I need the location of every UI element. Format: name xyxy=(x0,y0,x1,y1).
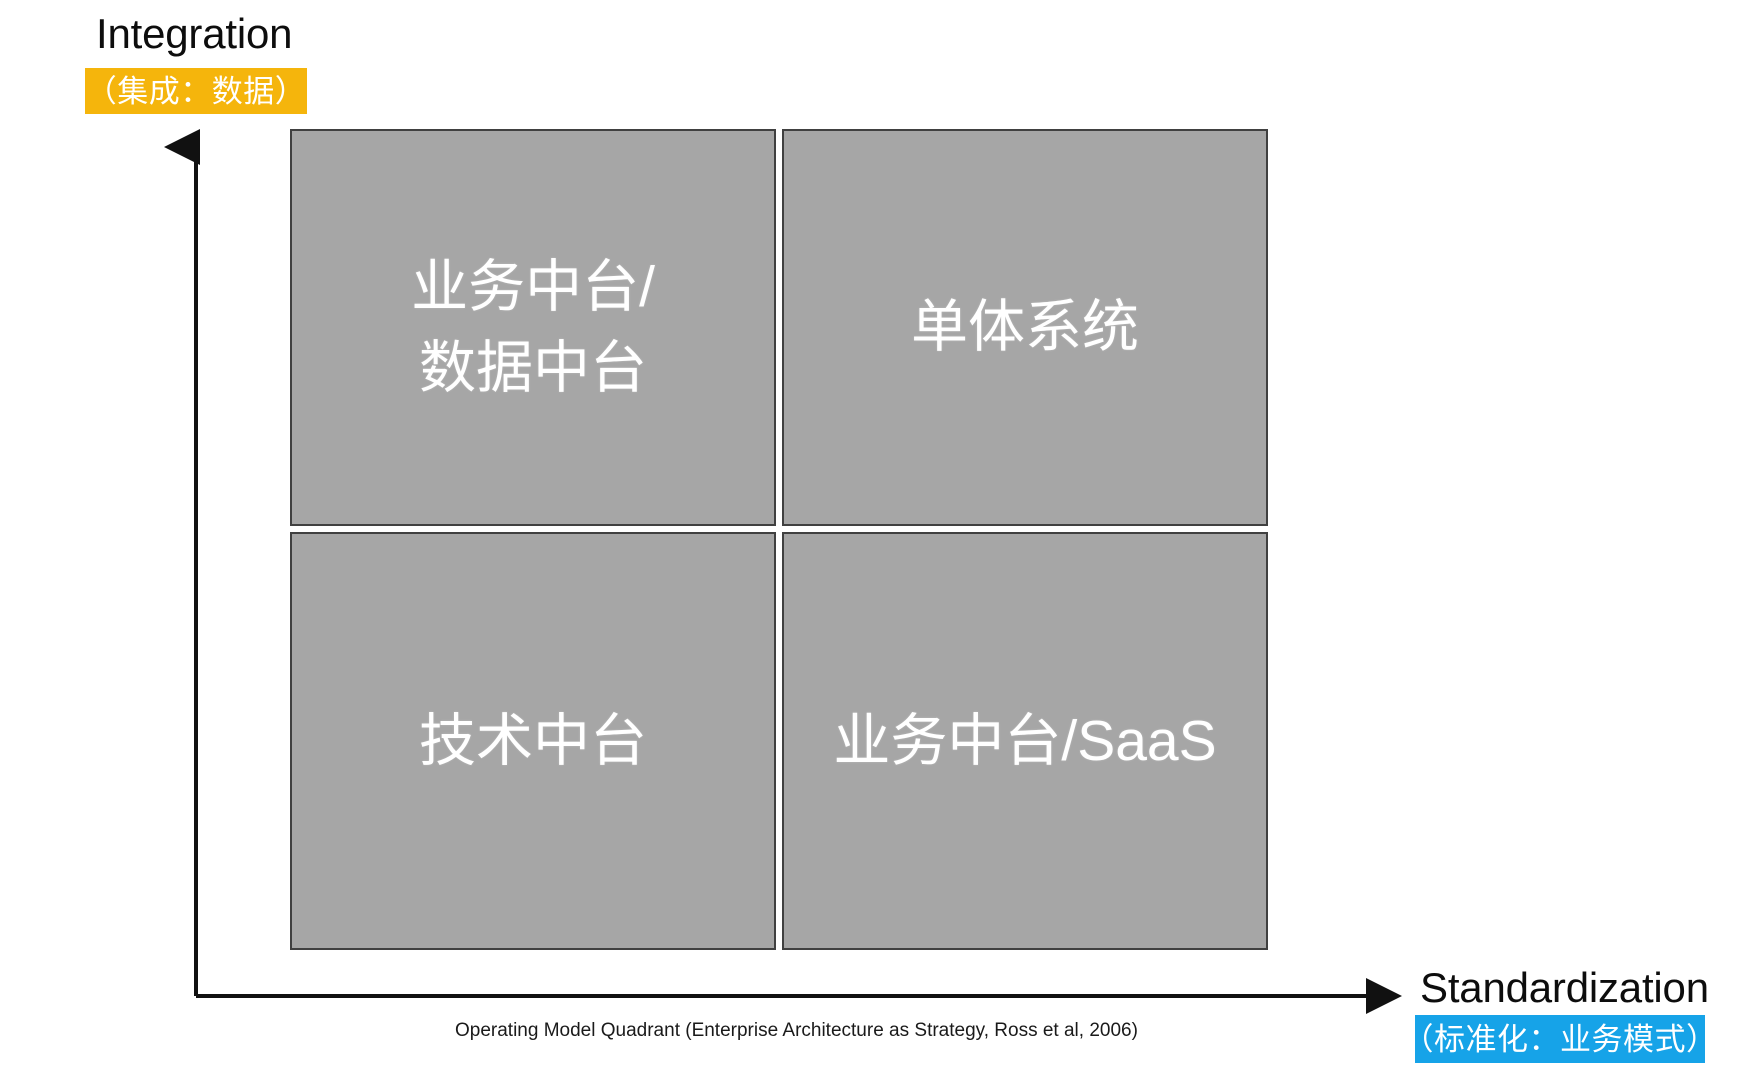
x-axis-badge: （标准化：业务模式） xyxy=(1415,1015,1705,1063)
quadrant-top-left[interactable]: 业务中台/ 数据中台 xyxy=(290,129,776,526)
quadrant-bottom-left-label: 技术中台 xyxy=(419,701,647,782)
y-axis-badge: （集成：数据） xyxy=(85,68,307,114)
quadrant-top-right[interactable]: 单体系统 xyxy=(782,129,1268,526)
quadrant-bottom-left[interactable]: 技术中台 xyxy=(290,532,776,950)
source-caption: Operating Model Quadrant (Enterprise Arc… xyxy=(455,1020,1115,1042)
y-axis-label: Integration xyxy=(96,13,292,55)
quadrant-top-left-label: 业务中台/ 数据中台 xyxy=(411,247,655,409)
operating-model-quadrant-slide: Integration （集成：数据） Standardization （标准化… xyxy=(0,0,1752,1080)
quadrant-bottom-right-label: 业务中台/SaaS xyxy=(833,701,1216,782)
quadrant-grid: 业务中台/ 数据中台 单体系统 技术中台 业务中台/SaaS xyxy=(290,129,1268,950)
quadrant-top-right-label: 单体系统 xyxy=(911,287,1139,368)
x-axis-label: Standardization xyxy=(1420,967,1709,1009)
quadrant-bottom-right[interactable]: 业务中台/SaaS xyxy=(782,532,1268,950)
